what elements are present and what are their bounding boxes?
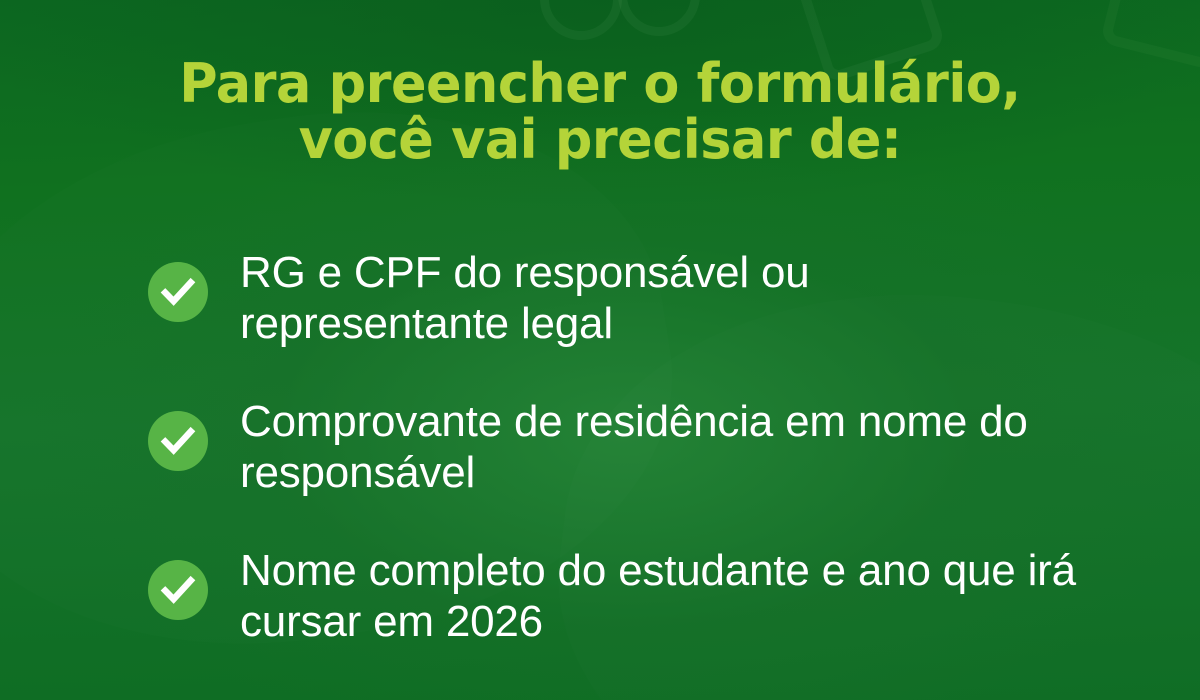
list-item: Nome completo do estudante e ano que irá… [148, 546, 1138, 647]
title-line-1: Para preencher o formulário, [18, 56, 1182, 112]
check-icon [148, 560, 208, 620]
check-icon [148, 411, 208, 471]
slide-title: Para preencher o formulário, você vai pr… [18, 56, 1182, 168]
list-item-label: Comprovante de residência em nome do res… [240, 397, 1080, 498]
title-line-2: você vai precisar de: [18, 112, 1182, 168]
list-item-label: RG e CPF do responsável ou representante… [240, 248, 1080, 349]
requirements-checklist: RG e CPF do responsável ou representante… [148, 248, 1138, 648]
list-item-label: Nome completo do estudante e ano que irá… [240, 546, 1080, 647]
decor-circle-outline-right [618, 0, 700, 36]
list-item: Comprovante de residência em nome do res… [148, 397, 1138, 498]
check-icon [148, 262, 208, 322]
slide-root: Para preencher o formulário, você vai pr… [0, 0, 1200, 700]
list-item: RG e CPF do responsável ou representante… [148, 248, 1138, 349]
decor-circle-outline-left [540, 0, 622, 40]
